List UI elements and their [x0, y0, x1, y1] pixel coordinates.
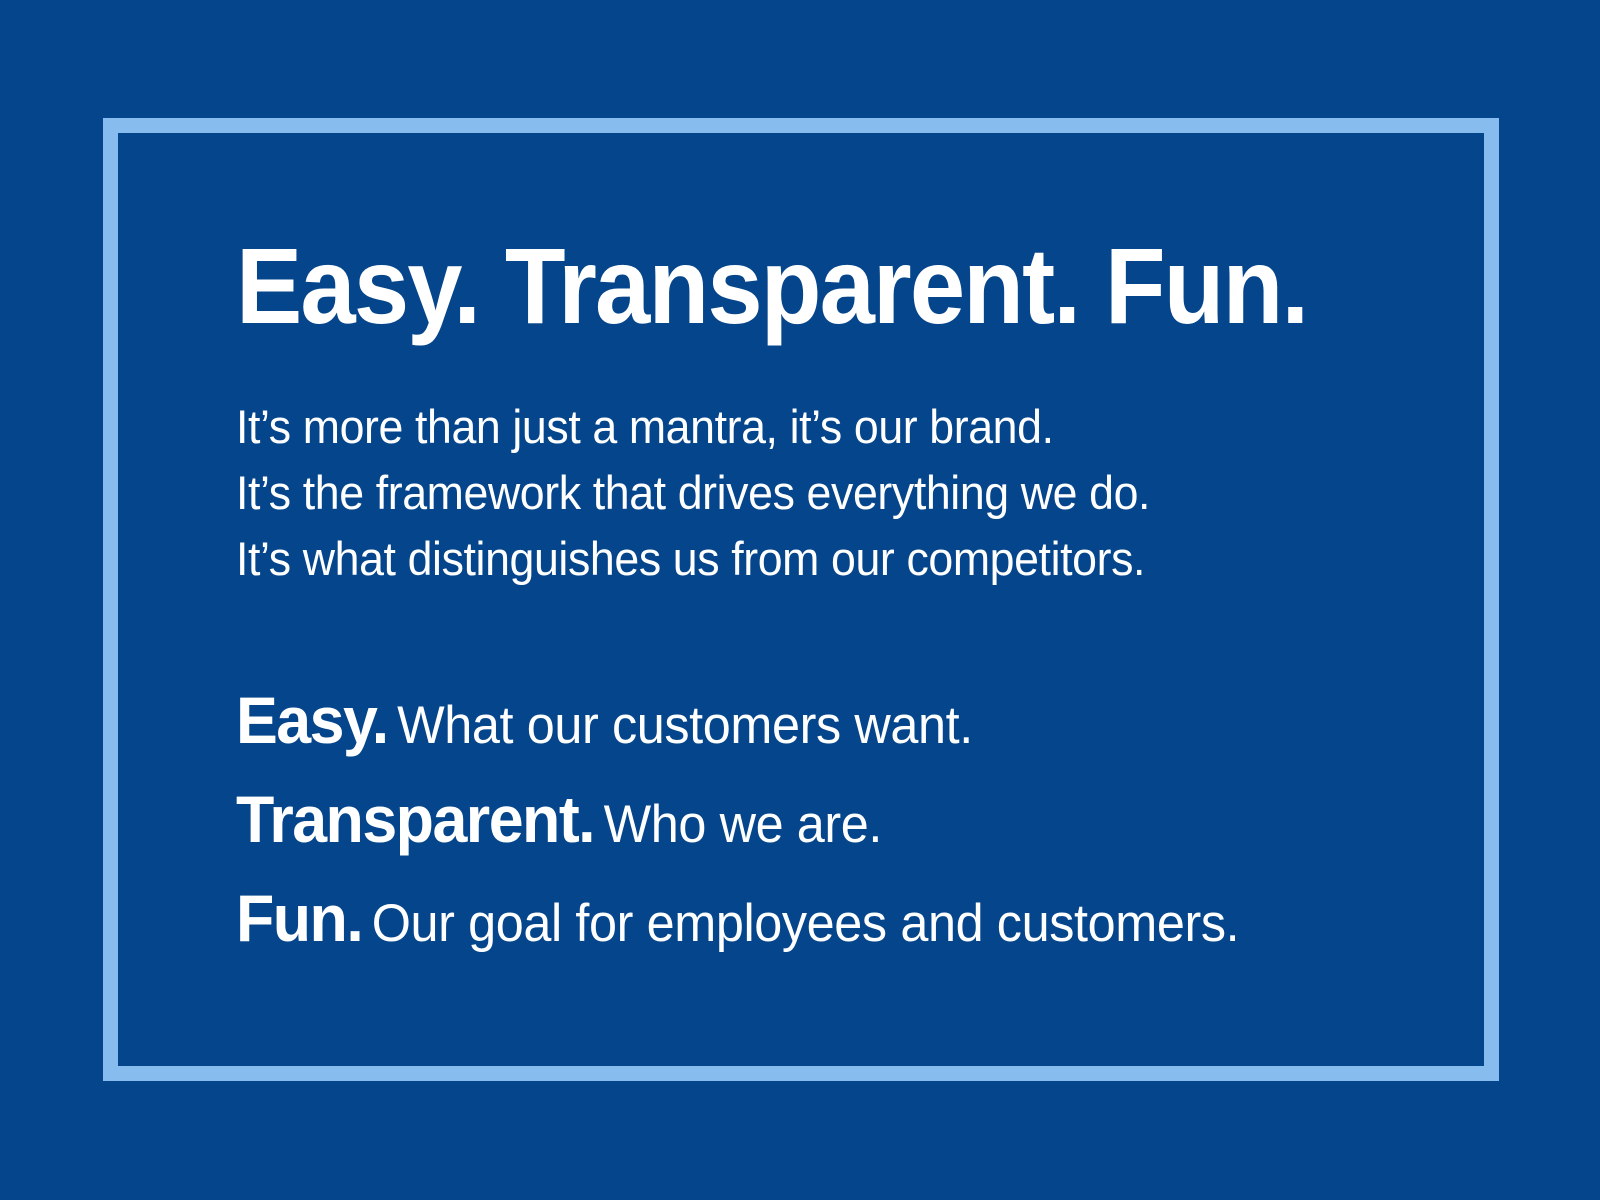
definition-description-easy: What our customers want. [397, 696, 973, 755]
definition-item-fun: Fun.Our goal for employees and customers… [236, 878, 1357, 977]
slide-content: Easy. Transparent. Fun. It’s more than j… [236, 232, 1416, 977]
brand-mantra-slide: Easy. Transparent. Fun. It’s more than j… [0, 0, 1600, 1200]
definition-item-easy: Easy.What our customers want. [236, 680, 1357, 779]
definitions-list: Easy.What our customers want. Transparen… [236, 680, 1416, 977]
slide-headline: Easy. Transparent. Fun. [236, 232, 1322, 340]
intro-line-2: It’s the framework that drives everythin… [236, 460, 1357, 526]
definition-term-fun: Fun. [236, 881, 362, 955]
definition-description-transparent: Who we are. [604, 795, 882, 854]
definition-description-fun: Our goal for employees and customers. [372, 894, 1239, 953]
definition-term-easy: Easy. [236, 683, 388, 757]
intro-line-1: It’s more than just a mantra, it’s our b… [236, 394, 1357, 460]
definition-item-transparent: Transparent.Who we are. [236, 779, 1357, 878]
definition-term-transparent: Transparent. [236, 782, 594, 856]
intro-line-3: It’s what distinguishes us from our comp… [236, 526, 1357, 592]
intro-paragraph: It’s more than just a mantra, it’s our b… [236, 394, 1416, 592]
